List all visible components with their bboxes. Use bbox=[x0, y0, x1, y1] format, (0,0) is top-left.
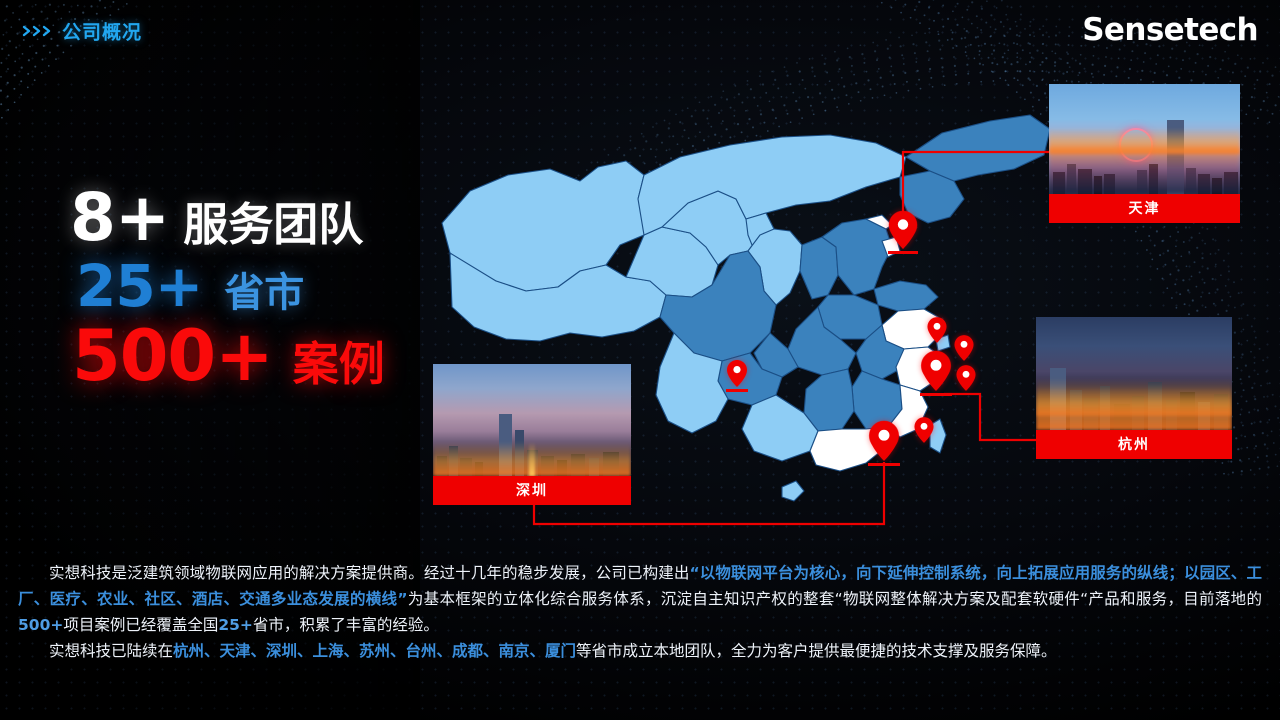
pin-taizhou[interactable] bbox=[914, 416, 935, 444]
pin-tianjin[interactable] bbox=[888, 210, 918, 250]
card-caption-tianjin: 天津 bbox=[1049, 194, 1240, 223]
p1-part-b: 为基本框架的立体化综合服务体系，沉淀自主知识产权的整套“物联网整体解决方案及配套… bbox=[408, 590, 1262, 608]
pin-suzhou[interactable] bbox=[927, 316, 948, 344]
pin-base-shenzhen bbox=[868, 463, 900, 466]
stat-row-provinces: 25+ 省市 bbox=[76, 257, 385, 315]
chevrons-right-icon bbox=[22, 24, 56, 38]
photo-tianjin bbox=[1049, 84, 1240, 194]
stat-label-provinces: 省市 bbox=[224, 273, 304, 313]
card-shenzhen[interactable]: 深圳 bbox=[433, 364, 631, 505]
stat-row-cases: 500+ 案例 bbox=[72, 321, 385, 391]
p1-metric-cases: 500+ bbox=[18, 616, 63, 634]
pin-ningbo[interactable] bbox=[956, 364, 977, 392]
pin-hangzhou[interactable] bbox=[920, 350, 952, 392]
stat-label-teams: 服务团队 bbox=[183, 202, 363, 247]
pin-base-tianjin bbox=[888, 251, 918, 254]
card-tianjin[interactable]: 天津 bbox=[1049, 84, 1240, 223]
p2-part-a: 实想科技已陆续在 bbox=[49, 642, 173, 660]
stat-label-cases: 案例 bbox=[293, 341, 385, 387]
stats-block: 8+ 服务团队 25+ 省市 500+ 案例 bbox=[70, 185, 385, 397]
p1-metric-provinces: 25+ bbox=[218, 616, 253, 634]
pin-shanghai[interactable] bbox=[954, 334, 975, 362]
pin-chengdu[interactable] bbox=[726, 359, 748, 388]
stat-number-cases: 500+ bbox=[72, 321, 273, 391]
paragraph-2: 实想科技已陆续在杭州、天津、深圳、上海、苏州、台州、成都、南京、厦门等省市成立本… bbox=[18, 638, 1262, 664]
p1-part-d: 省市，积累了丰富的经验。 bbox=[253, 616, 439, 634]
pin-base-chengdu bbox=[726, 389, 748, 392]
body-text: 实想科技是泛建筑领域物联网应用的解决方案提供商。经过十几年的稳步发展，公司已构建… bbox=[0, 560, 1280, 664]
stat-number-teams: 8+ bbox=[70, 185, 169, 251]
pin-shenzhen[interactable] bbox=[868, 420, 900, 462]
stat-number-provinces: 25+ bbox=[76, 257, 202, 315]
p1-part-a: 实想科技是泛建筑领域物联网应用的解决方案提供商。经过十几年的稳步发展，公司已构建… bbox=[49, 564, 689, 582]
brand-logo: Sensetech bbox=[1082, 12, 1258, 48]
paragraph-1: 实想科技是泛建筑领域物联网应用的解决方案提供商。经过十几年的稳步发展，公司已构建… bbox=[18, 560, 1262, 638]
card-caption-shenzhen: 深圳 bbox=[433, 476, 631, 505]
slide-root: 公司概况 Sensetech 8+ 服务团队 25+ 省市 500+ 案例 bbox=[0, 0, 1280, 720]
p2-part-b: 等省市成立本地团队，全力为客户提供最便捷的技术支撑及服务保障。 bbox=[576, 642, 1057, 660]
photo-hangzhou bbox=[1036, 317, 1232, 430]
stat-row-teams: 8+ 服务团队 bbox=[70, 185, 385, 251]
card-hangzhou[interactable]: 杭州 bbox=[1036, 317, 1232, 459]
p2-city-list: 杭州、天津、深圳、上海、苏州、台州、成都、南京、厦门 bbox=[173, 642, 576, 660]
card-caption-hangzhou: 杭州 bbox=[1036, 430, 1232, 459]
slide-header: 公司概况 Sensetech bbox=[0, 0, 1280, 62]
page-title: 公司概况 bbox=[62, 18, 142, 45]
pin-base-hangzhou bbox=[920, 393, 952, 396]
photo-shenzhen bbox=[433, 364, 631, 476]
p1-part-c: 项目案例已经覆盖全国 bbox=[63, 616, 218, 634]
